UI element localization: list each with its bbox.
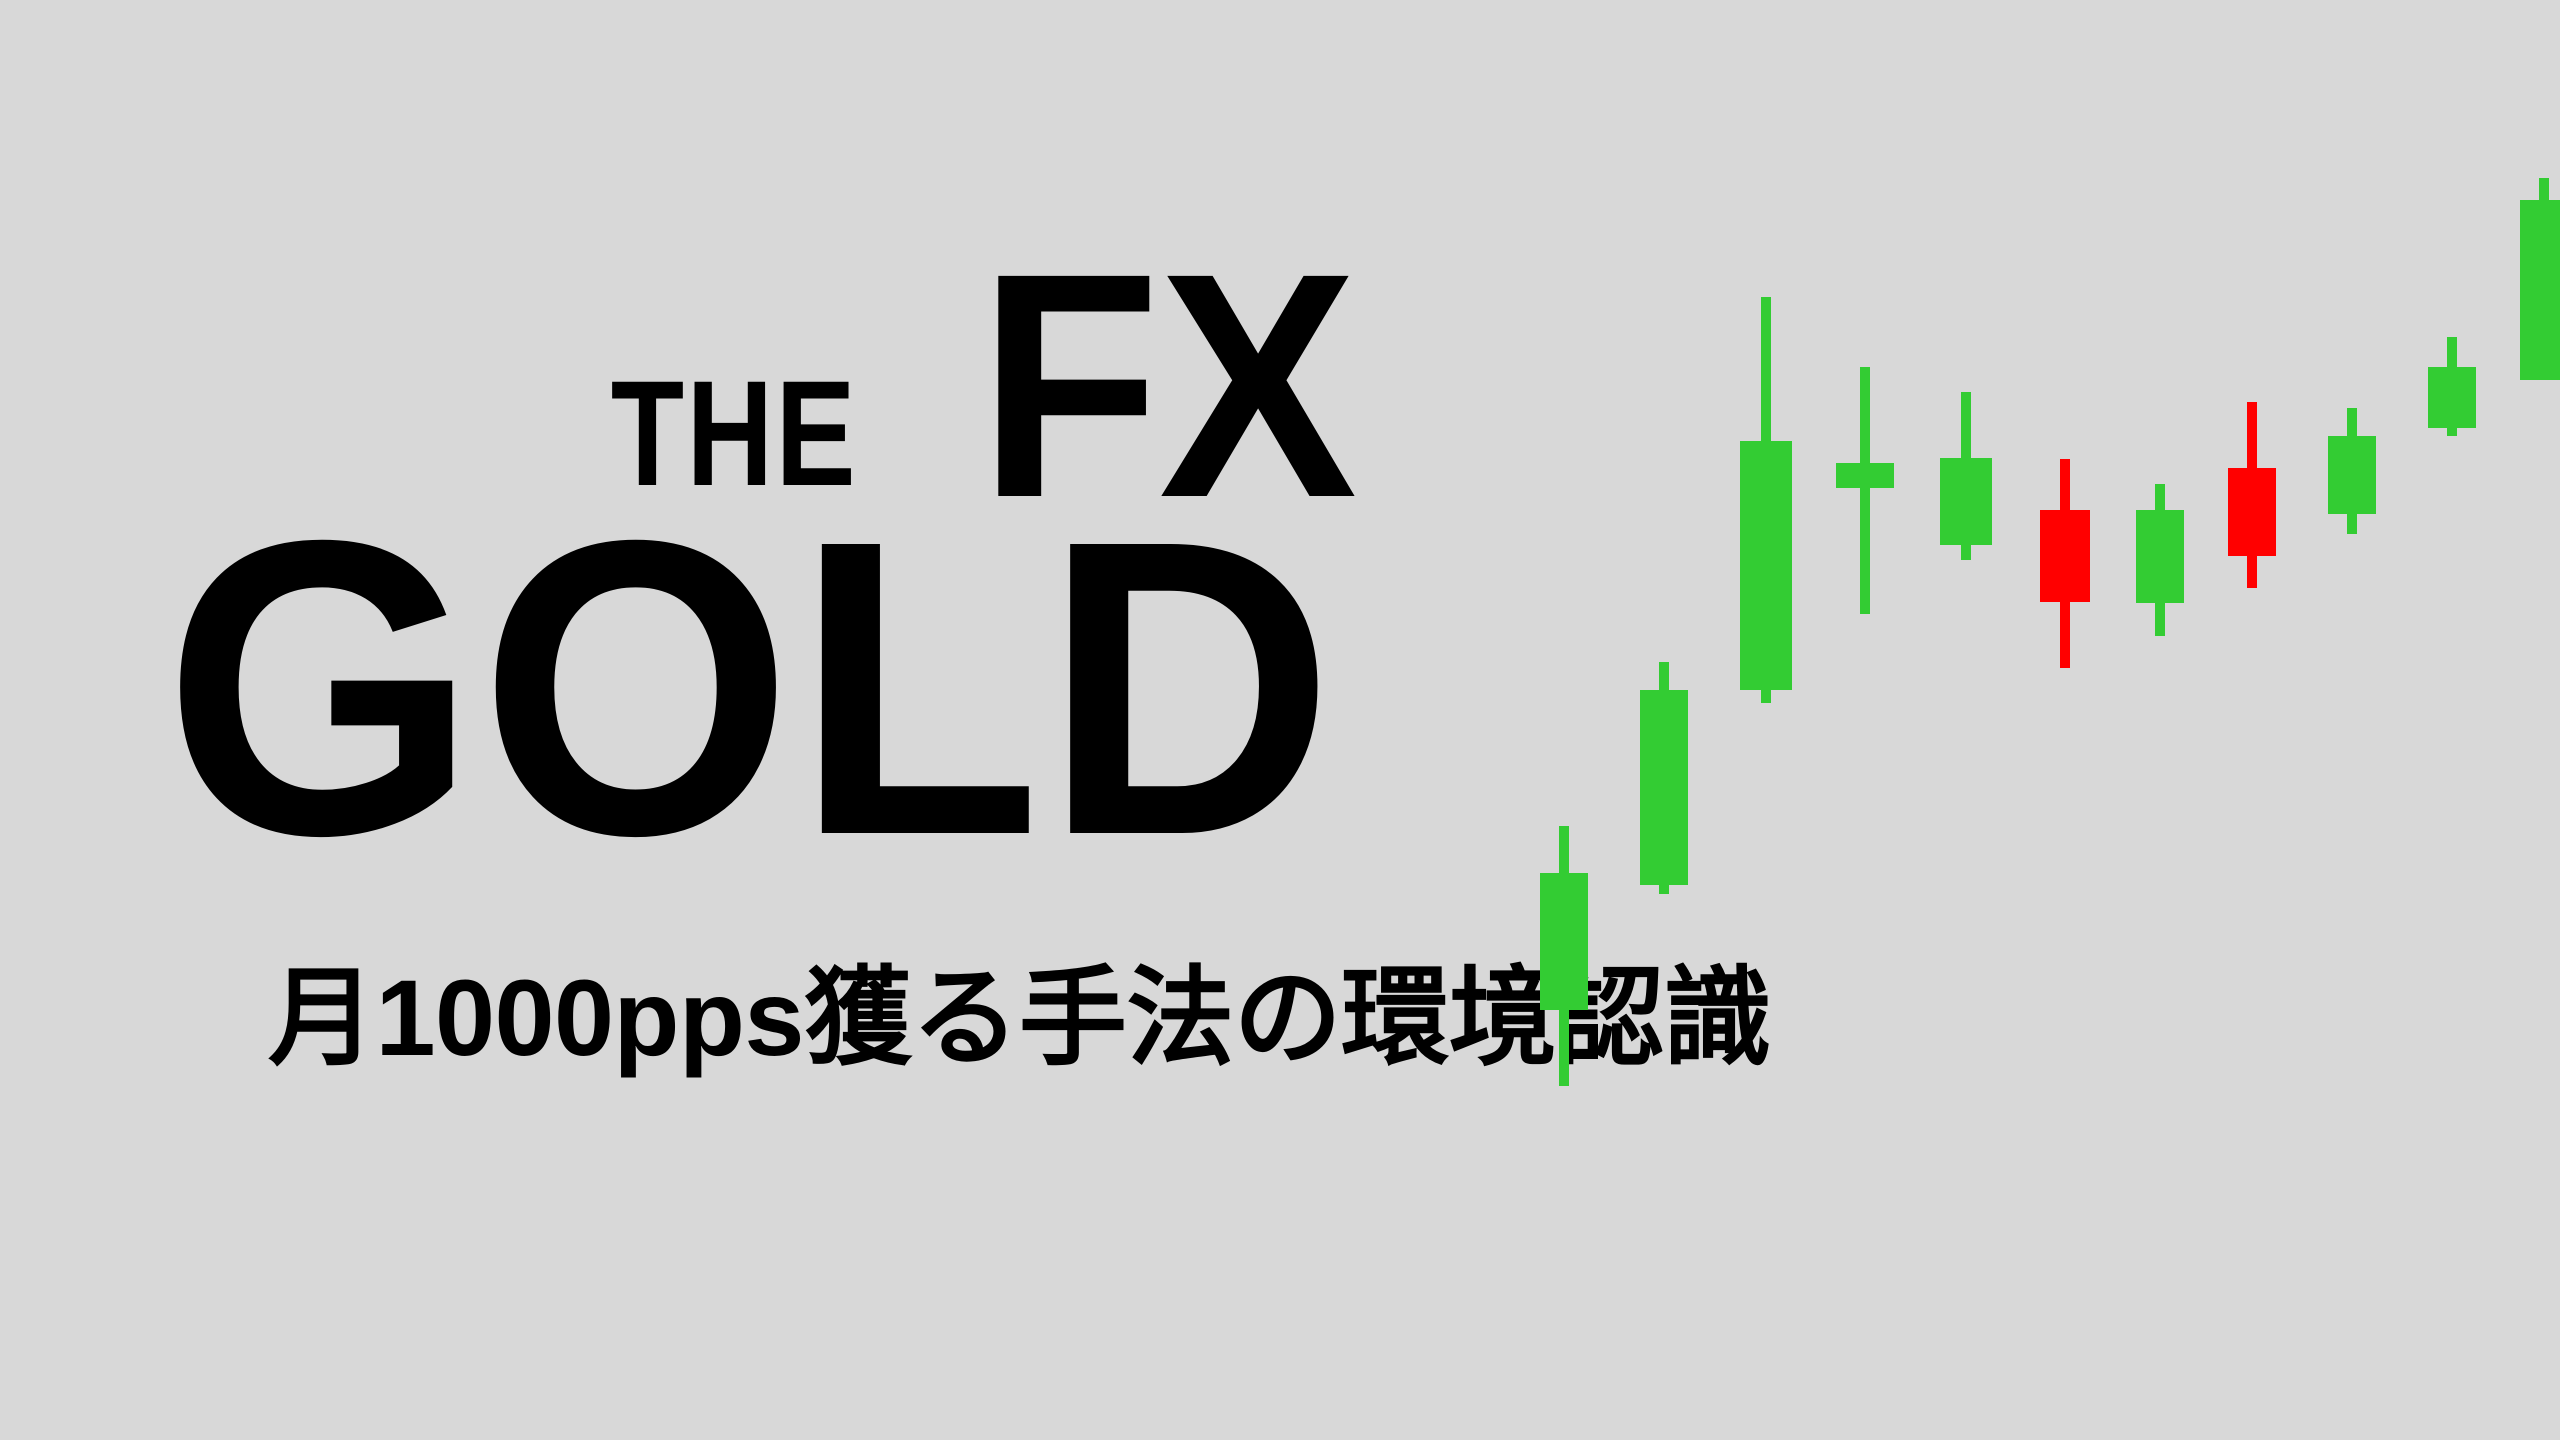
candlestick-2 bbox=[1640, 0, 1688, 1440]
candlestick-8 bbox=[2228, 0, 2276, 1440]
headline-word-fx: FX bbox=[979, 270, 1356, 500]
candlestick-chart bbox=[1500, 0, 2560, 1440]
candlestick-11 bbox=[2520, 0, 2560, 1440]
candle-body bbox=[2328, 436, 2376, 514]
candle-body bbox=[2228, 468, 2276, 556]
candlestick-9 bbox=[2328, 0, 2376, 1440]
candle-body bbox=[1540, 873, 1588, 1010]
candlestick-4 bbox=[1836, 0, 1894, 1440]
candlestick-7 bbox=[2136, 0, 2184, 1440]
headline-line-one: THE FX bbox=[0, 150, 1360, 500]
candlestick-3 bbox=[1740, 0, 1792, 1440]
title-block: THE FX GOLD 月1000pps獲る手法の環境認識 bbox=[0, 0, 1620, 1440]
candle-body bbox=[2136, 510, 2184, 603]
candle-body bbox=[1940, 458, 1992, 545]
candle-body bbox=[1640, 690, 1688, 885]
candlestick-6 bbox=[2040, 0, 2090, 1440]
candle-body bbox=[1836, 463, 1894, 488]
headline-word-gold: GOLD bbox=[30, 500, 1470, 878]
candlestick-1 bbox=[1540, 0, 1588, 1440]
candlestick-10 bbox=[2428, 0, 2476, 1440]
thumbnail-canvas: THE FX GOLD 月1000pps獲る手法の環境認識 bbox=[0, 0, 2560, 1440]
candle-body bbox=[1740, 441, 1792, 690]
candle-body bbox=[2520, 200, 2560, 380]
candle-body bbox=[2428, 367, 2476, 428]
candlestick-5 bbox=[1940, 0, 1992, 1440]
headline-word-the: THE bbox=[611, 375, 858, 492]
candle-body bbox=[2040, 510, 2090, 602]
candle-wick bbox=[1860, 367, 1870, 614]
